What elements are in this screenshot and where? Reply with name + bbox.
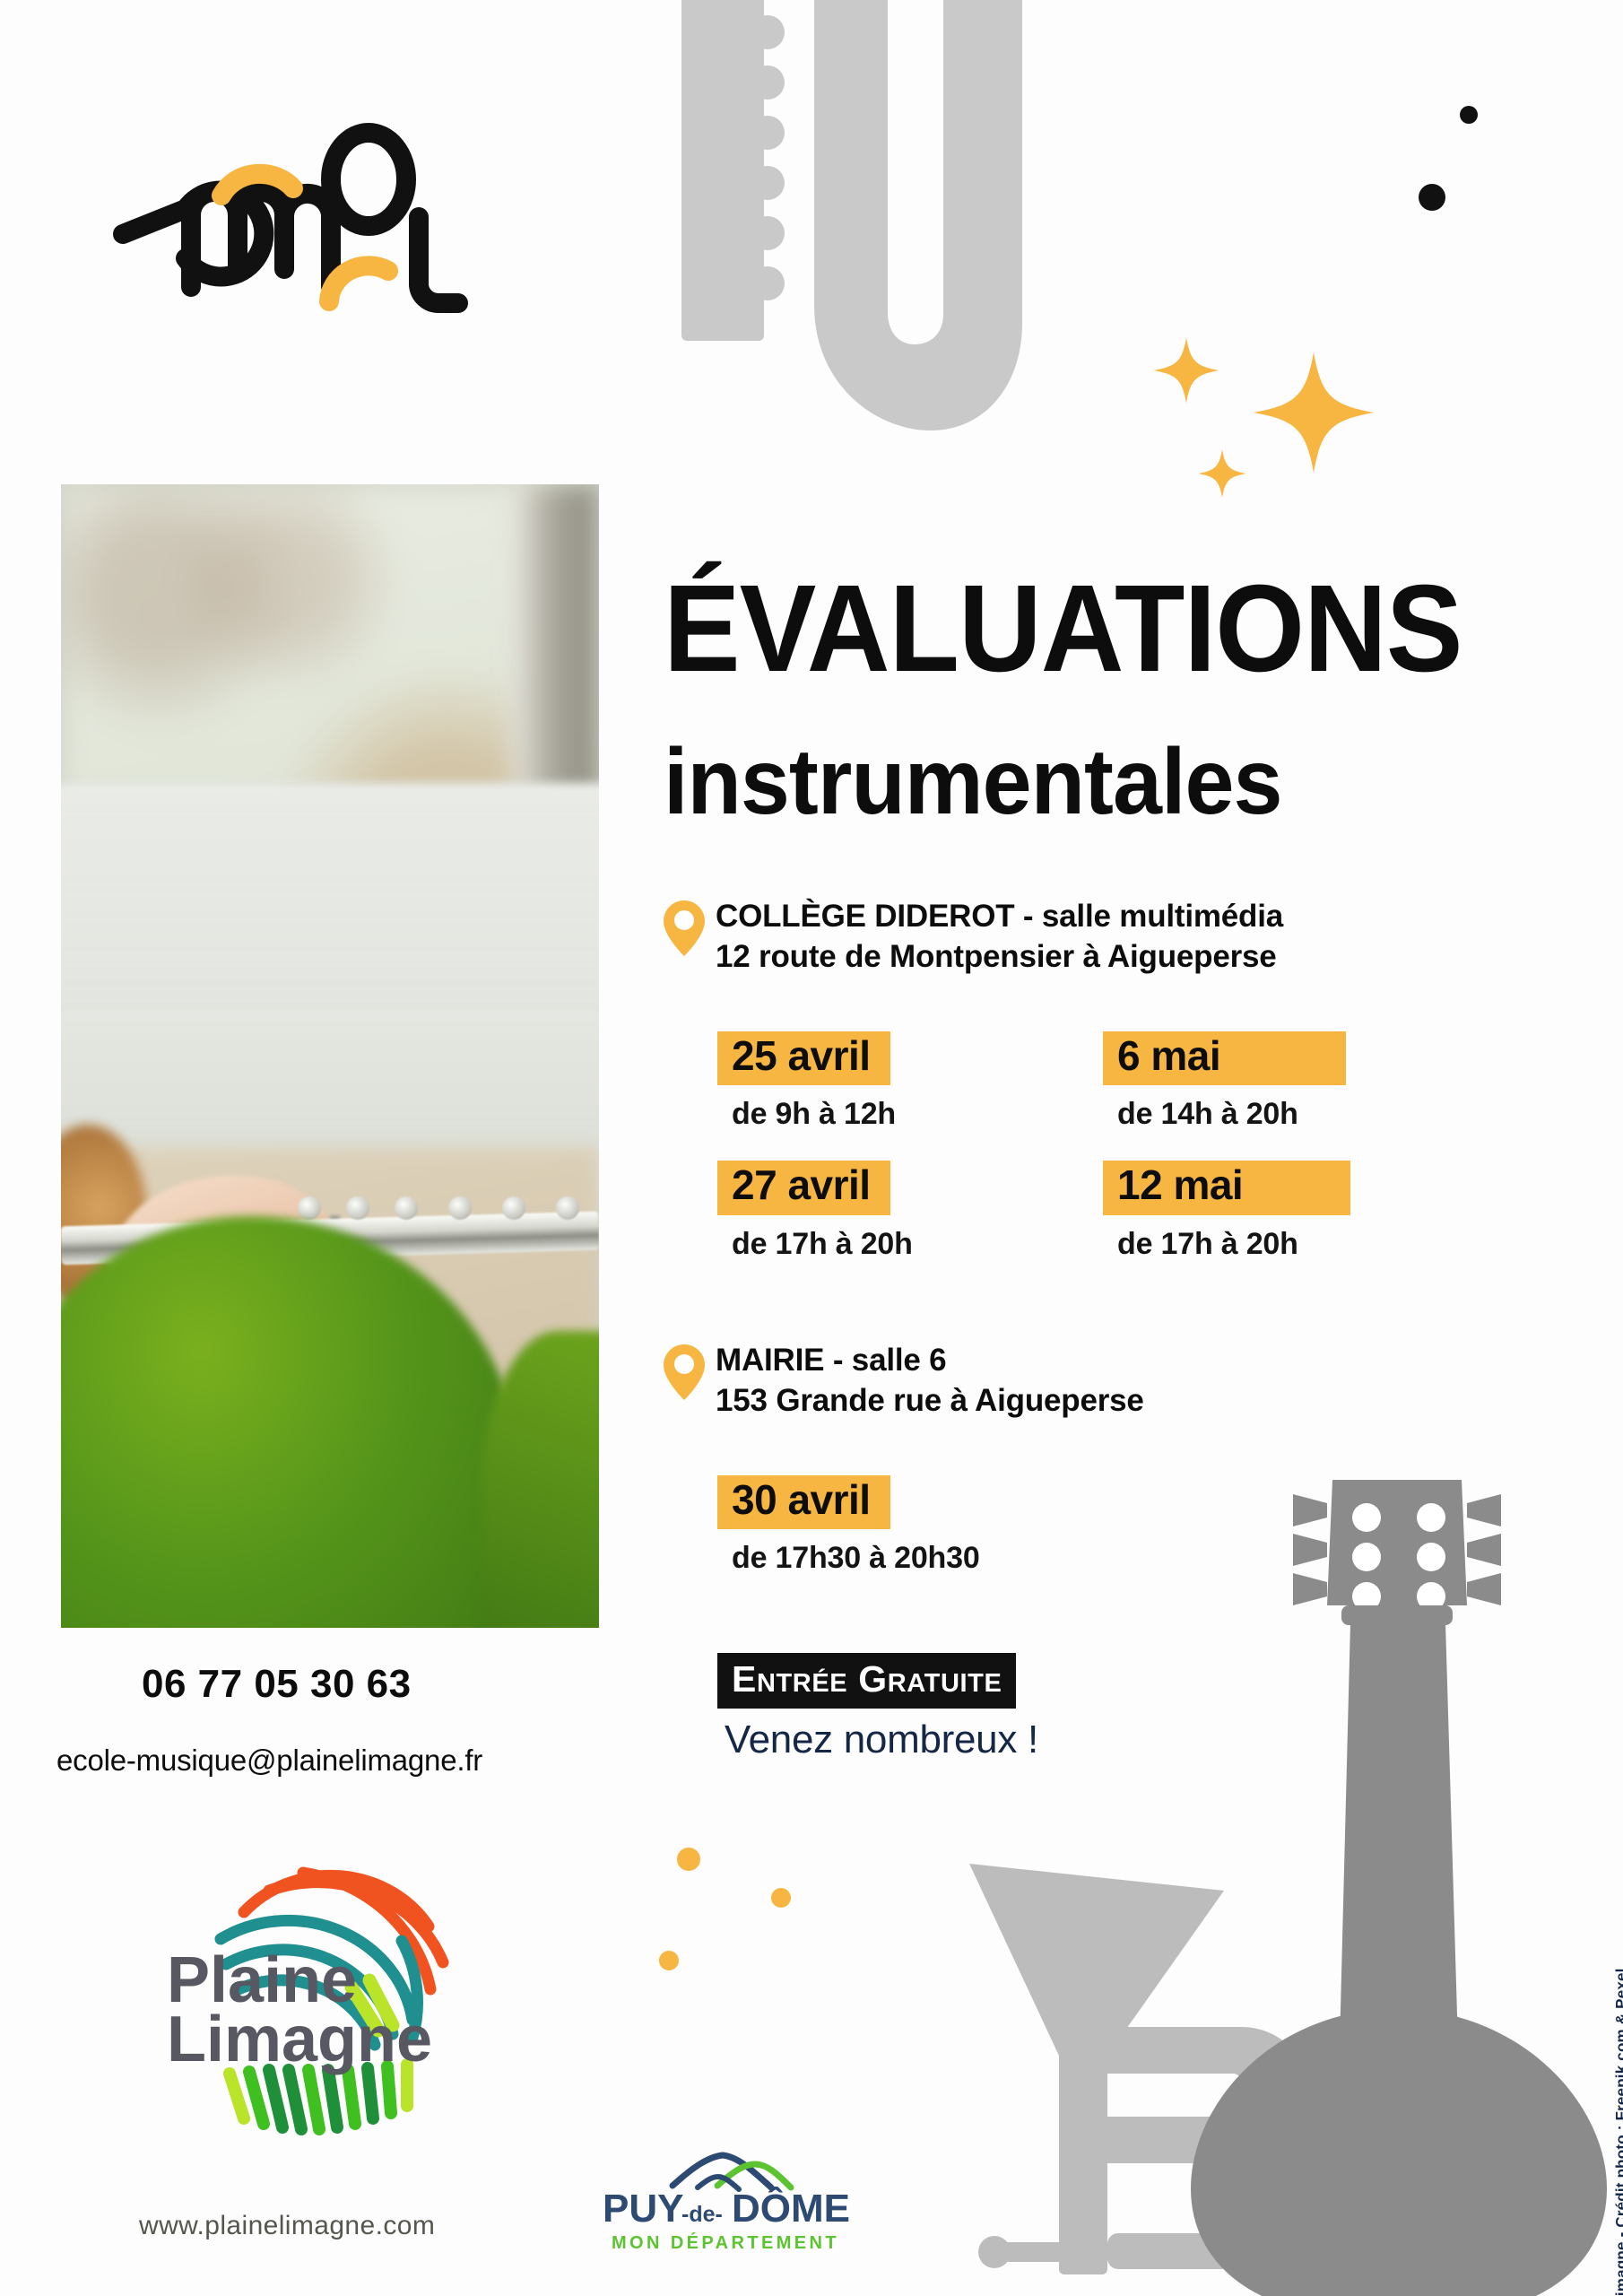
date-chip: 25 avril — [717, 1031, 890, 1085]
page-title: ÉVALUATIONS — [664, 570, 1462, 688]
sparkle-small-icon — [1152, 336, 1220, 409]
status-badge-free-entry: Entrée Gratuite — [717, 1653, 1016, 1709]
phone-number[interactable]: 06 77 05 30 63 — [142, 1662, 412, 1707]
black-dot-large-icon — [1419, 184, 1445, 211]
date-item: 12 mai de 17h à 20h — [1103, 1161, 1488, 1261]
puy-de-dome-tagline: MON DÉPARTEMENT — [612, 2232, 839, 2253]
date-chip: 12 mai — [1103, 1161, 1350, 1214]
puy-de-dome-logo: PUY -de- DÔME MON DÉPARTEMENT — [592, 2148, 879, 2265]
map-pin-icon — [664, 1344, 705, 1400]
date-time: de 9h à 12h — [732, 1097, 1103, 1132]
poster-root: ÉVALUATIONS instrumentales COLLÈGE DIDER… — [0, 0, 1623, 2296]
date-time: de 17h à 20h — [732, 1227, 1103, 1262]
empl-logo — [85, 108, 551, 314]
puy-de-dome-dome: DÔME — [732, 2185, 850, 2231]
yellow-dot-icon-3 — [659, 1951, 679, 1970]
website-url[interactable]: www.plainelimagne.com — [139, 2211, 435, 2241]
plaine-limagne-line2: Limagne — [167, 2004, 432, 2075]
saxophone-silhouette-icon — [646, 0, 1022, 502]
email-address[interactable]: ecole-musique@plainelimagne.fr — [56, 1744, 482, 1778]
plaine-limagne-logo: Plaine Limagne — [143, 1830, 520, 2161]
venue-text-block: MAIRIE - salle 6 153 Grande rue à Aiguep… — [716, 1341, 1144, 1422]
venue-mairie: MAIRIE - salle 6 153 Grande rue à Aiguep… — [664, 1341, 1144, 1422]
date-item: 30 avril de 17h30 à 20h30 — [717, 1475, 1103, 1576]
puy-de-dome-puy: PUY — [603, 2187, 683, 2231]
flute-photo — [61, 484, 599, 1628]
puy-de-dome-de: -de- — [681, 2202, 723, 2227]
map-pin-icon — [664, 900, 705, 956]
date-time: de 17h30 à 20h30 — [732, 1541, 1103, 1576]
date-chip: 6 mai — [1103, 1031, 1346, 1085]
date-grid-college: 25 avril de 9h à 12h 6 mai de 14h à 20h … — [717, 1031, 1524, 1262]
date-item: 6 mai de 14h à 20h — [1103, 1031, 1488, 1132]
venue-text-block: COLLÈGE DIDEROT - salle multimédia 12 ro… — [716, 897, 1283, 978]
date-time: de 14h à 20h — [1117, 1097, 1488, 1132]
sparkle-large-icon — [1251, 350, 1376, 480]
venue-address: 12 route de Montpensier à Aigueperse — [716, 937, 1283, 978]
date-chip: 30 avril — [717, 1475, 890, 1529]
yellow-dot-icon-1 — [677, 1848, 700, 1871]
yellow-dot-icon-2 — [771, 1888, 791, 1908]
date-item: 27 avril de 17h à 20h — [717, 1161, 1103, 1261]
credits-text: Conception : Service communication - Pla… — [1612, 1968, 1623, 2296]
venue-name: MAIRIE - salle 6 — [716, 1341, 1144, 1381]
sparkle-tiny-icon — [1197, 448, 1247, 503]
venue-address: 153 Grande rue à Aigueperse — [716, 1381, 1144, 1422]
venue-college-diderot: COLLÈGE DIDEROT - salle multimédia 12 ro… — [664, 897, 1283, 978]
invitation-text: Venez nombreux ! — [725, 1718, 1038, 1762]
page-subtitle: instrumentales — [664, 735, 1281, 829]
date-chip: 27 avril — [717, 1161, 890, 1214]
date-grid-mairie: 30 avril de 17h30 à 20h30 — [717, 1475, 1524, 1576]
date-time: de 17h à 20h — [1117, 1227, 1488, 1262]
black-dot-small-icon — [1460, 106, 1478, 124]
date-item: 25 avril de 9h à 12h — [717, 1031, 1103, 1132]
venue-name: COLLÈGE DIDEROT - salle multimédia — [716, 897, 1283, 937]
guitar-silhouette-icon — [1166, 1471, 1623, 2296]
